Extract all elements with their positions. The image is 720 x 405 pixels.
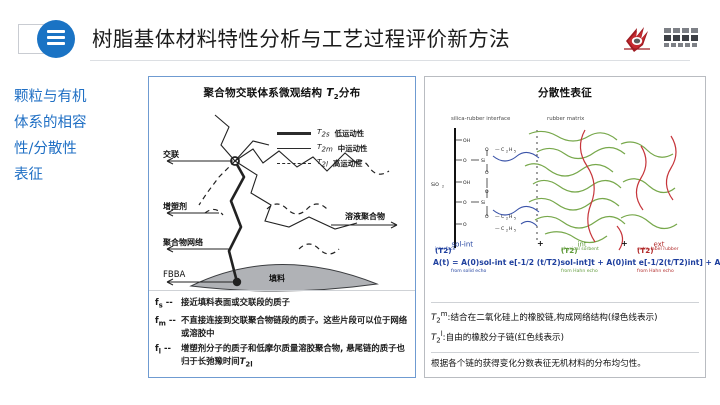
svg-text:2: 2 xyxy=(442,185,444,189)
page-header: 树脂基体材料特性分析与工艺过程评价新方法 xyxy=(0,0,720,62)
equation-source-caption-1: from solid echo xyxy=(451,269,486,274)
note-t2m-text: :结合在二氧化硅上的橡胶链,构成网络结构(绿色线表示) xyxy=(448,313,658,323)
label-plasticizer: 增塑剂 xyxy=(163,201,187,212)
right-content-panel: 分散性表征 silica-rubber interface rubber mat… xyxy=(424,76,706,378)
right-panel-notes: T2m:结合在二氧化硅上的橡胶链,构成网络结构(绿色线表示) T2l:自由的橡胶… xyxy=(425,298,705,377)
left-panel-title-tail: 分布 xyxy=(339,87,361,99)
silica-rubber-diagram: silica-rubber interface rubber matrix OH… xyxy=(425,100,705,300)
note-fm: fm -- 不直接连接到交联聚合物链段的质子。这些片段可以位于网络或溶胶中 xyxy=(155,314,409,341)
sidebar-line-4: 表征 xyxy=(14,162,134,188)
svg-text:5: 5 xyxy=(514,229,516,233)
svg-text:— C: — C xyxy=(495,147,504,153)
svg-text:2: 2 xyxy=(506,150,508,154)
note-key-sub-3: l xyxy=(159,347,161,355)
equation-caption-2: physical sorbent xyxy=(561,247,599,252)
note-key-sub-1: s xyxy=(159,301,163,309)
left-panel-notes: fs -- 接近填料表面或交联段的质子 fm -- 不直接连接到交联聚合物链段的… xyxy=(149,290,415,377)
label-polymer-network: 聚合物网络 xyxy=(163,237,203,248)
svg-text:H: H xyxy=(509,214,512,220)
left-panel-title-text: 聚合物交联体系微观结构 xyxy=(203,87,322,99)
svg-text:Si: Si xyxy=(481,158,485,164)
svg-text:SiO: SiO xyxy=(431,182,439,188)
note-t2m-sup: m xyxy=(441,310,448,318)
svg-text:2: 2 xyxy=(506,229,508,233)
label-filler: 填料 xyxy=(269,273,285,284)
right-panel-title: 分散性表征 xyxy=(425,85,705,100)
note-text-1: 接近填料表面或交联段的质子 xyxy=(181,296,409,313)
equation-source-caption-3: from Hahn echo xyxy=(637,269,674,274)
sidebar-line-3: 性/分散性 xyxy=(14,136,134,162)
note-tail-sub-3: 2l xyxy=(245,361,252,369)
equation-source-caption-2: from Hahn echo xyxy=(561,269,598,274)
svg-text:— C: — C xyxy=(495,226,504,232)
svg-text:O: O xyxy=(463,200,467,206)
svg-text:O: O xyxy=(463,158,467,164)
hamburger-menu-icon[interactable] xyxy=(47,30,65,48)
note-fl: fl -- 增塑剂分子的质子和低摩尔质量溶胶聚合物, 悬尾链的质子也归于长弛豫时… xyxy=(155,342,409,372)
svg-text:OH: OH xyxy=(463,138,470,144)
left-content-panel: 聚合物交联体系微观结构 T2分布 T2s 低运动性 T2m 中运动性 T2l 高… xyxy=(148,76,416,378)
svg-text:5: 5 xyxy=(514,217,516,221)
equation-caption-1: interface xyxy=(435,247,456,252)
svg-text:Si: Si xyxy=(481,200,485,206)
header-divider xyxy=(90,60,690,61)
note-t2m: T2m:结合在二氧化硅上的橡胶链,构成网络结构(绿色线表示) xyxy=(431,307,699,328)
sidebar-line-2: 体系的相容 xyxy=(14,110,134,136)
equation-caption-3: extra-label rubber xyxy=(637,247,679,252)
note-text-2: 不直接连接到交联聚合物链段的质子。这些片段可以位于网络或溶胶中 xyxy=(181,314,409,341)
left-panel-title-symbol: T xyxy=(326,87,333,99)
label-crosslink: 交联 xyxy=(163,149,179,160)
crosslink-network-diagram: T2s 低运动性 T2m 中运动性 T2l 高运动性 xyxy=(149,101,415,299)
equation-plus-1: + xyxy=(537,239,544,248)
note-t2l-text: :自由的橡胶分子链(红色线表示) xyxy=(443,333,564,343)
left-panel-title: 聚合物交联体系微观结构 T2分布 xyxy=(149,85,415,101)
note-t2l: T2l:自由的橡胶分子链(红色线表示) xyxy=(431,327,699,348)
label-solution-polymer: 溶液聚合物 xyxy=(345,211,385,222)
label-silica-rubber-interface: silica-rubber interface xyxy=(451,116,510,122)
note-text-3: 增塑剂分子的质子和低摩尔质量溶胶聚合物, 悬尾链的质子也归于长弛豫时间 xyxy=(181,343,405,366)
summary-text: 根据各个链的获得变化分数表征无机材料的分布均匀性。 xyxy=(431,357,699,371)
svg-text:O: O xyxy=(463,222,467,228)
svg-text:H: H xyxy=(509,147,512,153)
note-key-sub-2: m xyxy=(159,319,166,327)
note-dash-2: -- xyxy=(169,315,176,325)
equation-plus-2: + xyxy=(621,239,628,248)
label-rubber-matrix: rubber matrix xyxy=(547,116,584,122)
equation-main-line: A(t) = A(0)sol-int e[-1/2 (t/T2)sol-int]… xyxy=(433,258,720,267)
svg-text:OH: OH xyxy=(463,180,470,186)
sidebar-caption: 颗粒与有机 体系的相容 性/分散性 表征 xyxy=(14,84,134,188)
sidebar-line-1: 颗粒与有机 xyxy=(14,84,134,110)
note-block-definitions: T2m:结合在二氧化硅上的橡胶链,构成网络结构(绿色线表示) T2l:自由的橡胶… xyxy=(431,302,699,352)
note-block-summary: 根据各个链的获得变化分数表征无机材料的分布均匀性。 xyxy=(431,352,699,373)
note-dash-1: -- xyxy=(166,297,173,307)
rog-brand-logo xyxy=(622,22,708,56)
label-fbba: FBBA xyxy=(163,270,185,280)
svg-text:2: 2 xyxy=(506,217,508,221)
page-title: 树脂基体材料特性分析与工艺过程评价新方法 xyxy=(92,22,510,52)
note-fs: fs -- 接近填料表面或交联段的质子 xyxy=(155,296,409,313)
svg-text:5: 5 xyxy=(514,150,516,154)
polymer-network-drawing xyxy=(149,101,415,299)
note-dash-3: -- xyxy=(164,343,171,353)
svg-text:H: H xyxy=(509,226,512,232)
